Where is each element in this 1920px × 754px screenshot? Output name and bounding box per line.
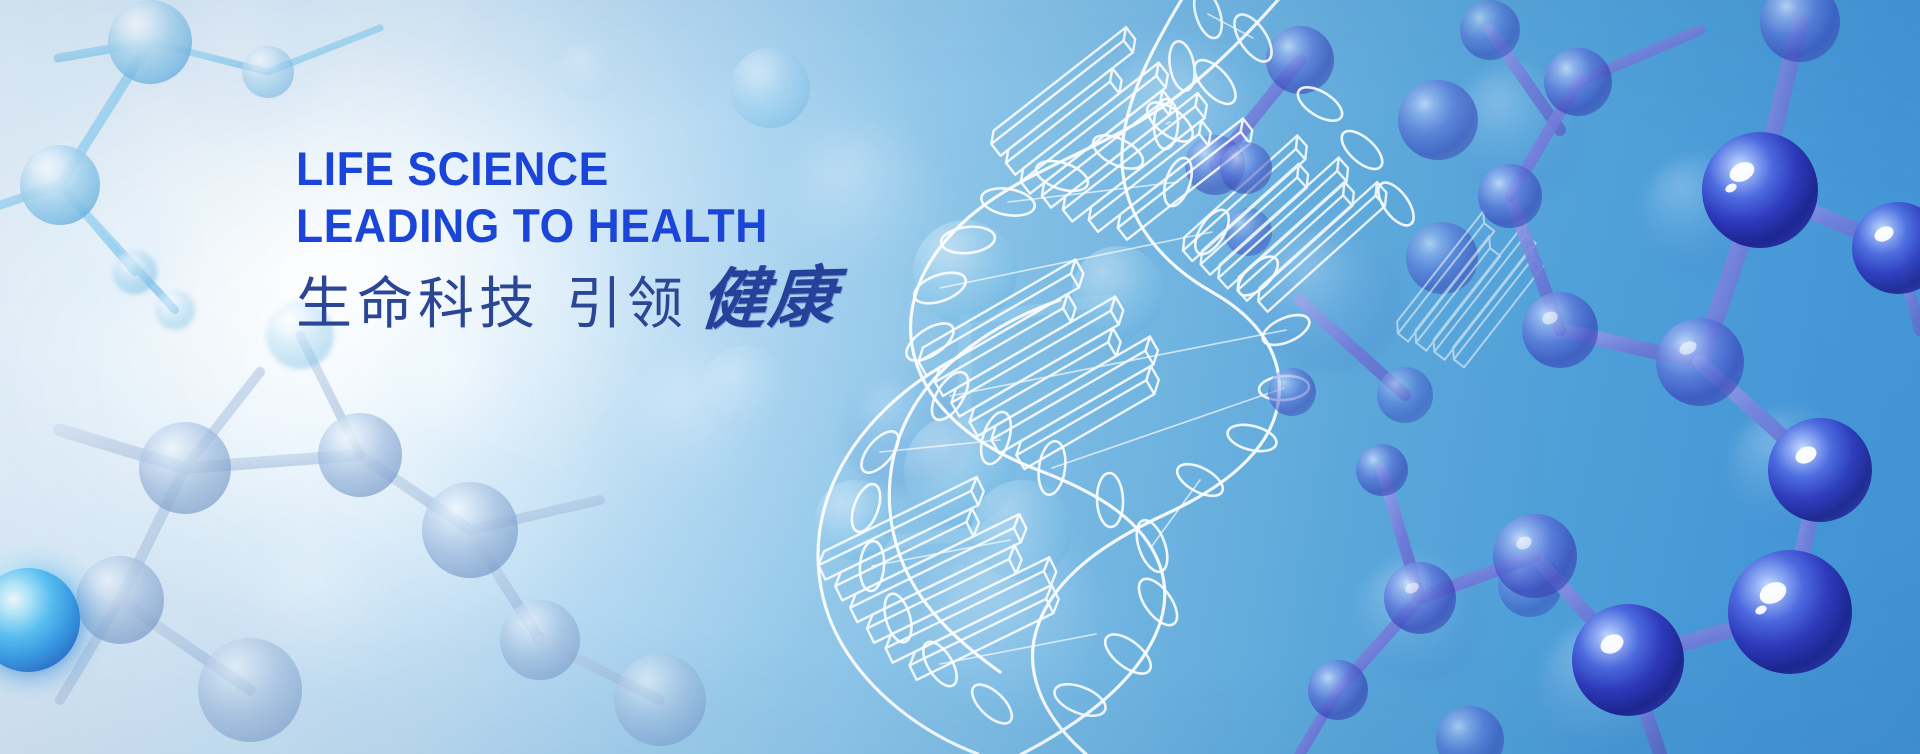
headline-line-2: LEADING TO HEALTH [296,197,1014,254]
headline-line-1: LIFE SCIENCE [296,140,1014,197]
subtitle-accent: 健康 [698,267,839,333]
subtitle-secondary: 引领 [566,274,688,336]
subtitle-primary: 生命科技 [296,274,540,336]
background-vignette [0,0,1920,754]
subtitle-line: 生命科技 引领 健康 [296,271,1056,336]
headline-block: LIFE SCIENCE LEADING TO HEALTH 生命科技 引领 健… [296,140,1056,336]
banner-root: LIFE SCIENCE LEADING TO HEALTH 生命科技 引领 健… [0,0,1920,754]
